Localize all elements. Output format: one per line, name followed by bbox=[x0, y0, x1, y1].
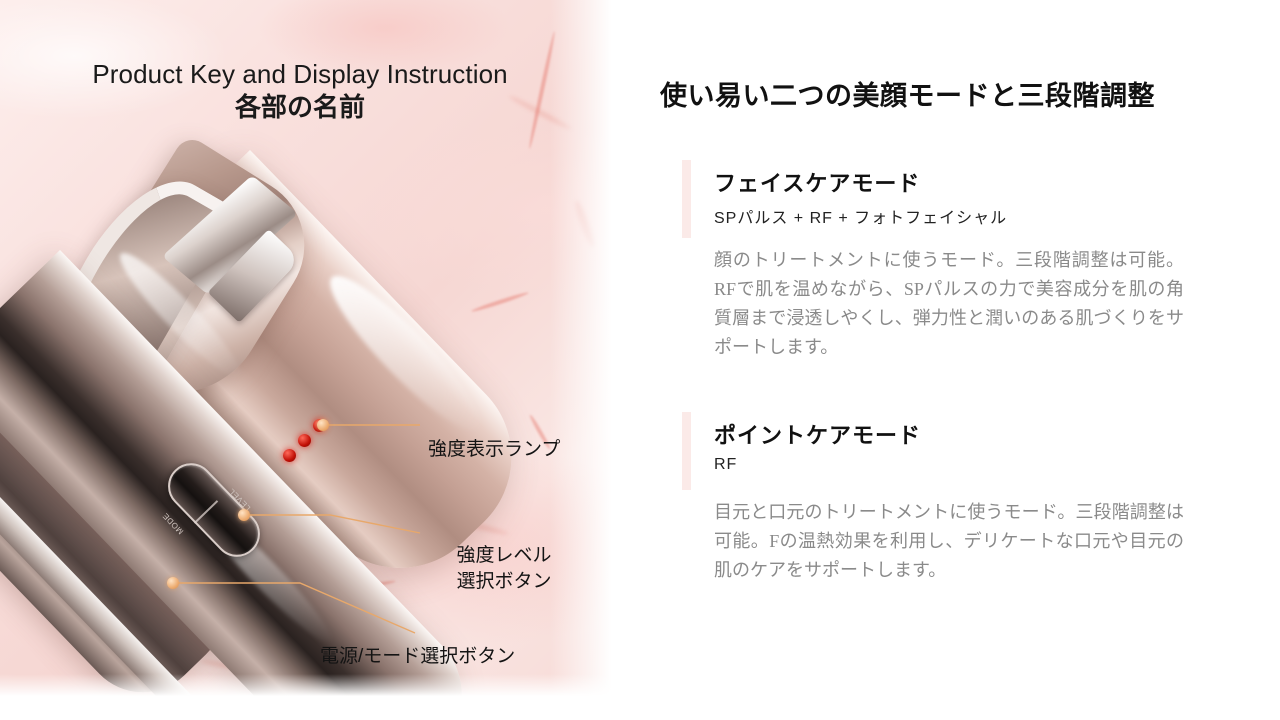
section-heading: 使い易い二つの美顔モードと三段階調整 bbox=[660, 74, 1260, 113]
left-image-panel: MODE LEVEL Product Key and Display Instr… bbox=[0, 0, 620, 700]
callout-label-intensity-lamp: 強度表示ランプ bbox=[428, 437, 560, 463]
callout-dot-level bbox=[238, 509, 250, 521]
slide-root: MODE LEVEL Product Key and Display Instr… bbox=[0, 0, 1280, 720]
accent-bar bbox=[682, 412, 691, 490]
callout-dot-lamp bbox=[317, 419, 329, 431]
intensity-lamp-led bbox=[298, 434, 311, 447]
mode-description: 顔のトリートメントに使うモード。三段階調整は可能。RFで肌を温めながら、SPパル… bbox=[714, 246, 1184, 363]
mode-subtitle: SPパルス + RF + フォトフェイシャル bbox=[714, 204, 1007, 228]
mode-subtitle: RF bbox=[714, 456, 737, 474]
callout-label-level-line1: 強度レベル bbox=[424, 543, 584, 569]
callout-label-power-mode-button: 電源/モード選択ボタン bbox=[320, 644, 515, 670]
mode-title: フェイスケアモード bbox=[714, 166, 920, 198]
callout-label-level-button: 強度レベル 選択ボタン bbox=[424, 543, 584, 594]
mode-title: ポイントケアモード bbox=[714, 418, 921, 450]
intensity-lamp-led bbox=[283, 449, 296, 462]
callout-label-level-line2: 選択ボタン bbox=[424, 569, 584, 595]
right-content-panel: 使い易い二つの美顔モードと三段階調整 フェイスケアモード SPパルス + RF … bbox=[620, 0, 1280, 720]
page-title-en: Product Key and Display Instruction bbox=[0, 60, 600, 90]
left-title-group: Product Key and Display Instruction 各部の名… bbox=[0, 60, 600, 123]
accent-bar bbox=[682, 160, 691, 238]
panel-bottom-fade bbox=[0, 674, 620, 700]
page-title-jp: 各部の名前 bbox=[0, 92, 600, 123]
callout-dot-power bbox=[167, 577, 179, 589]
mode-description: 目元と口元のトリートメントに使うモード。三段階調整は可能。Fの温熱効果を利用し、… bbox=[714, 498, 1184, 585]
